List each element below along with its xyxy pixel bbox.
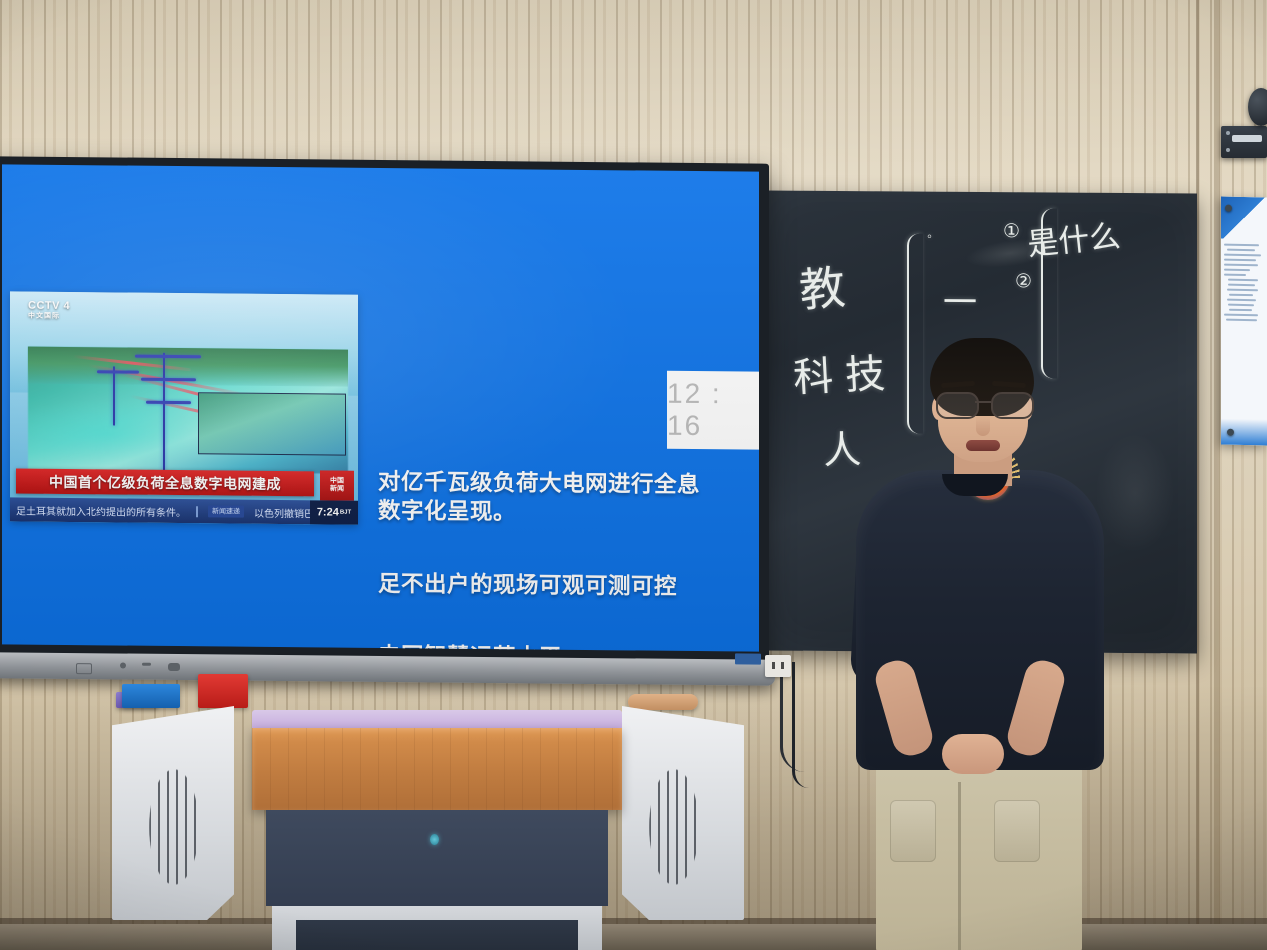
display-menu-button[interactable] <box>120 662 126 668</box>
podium-base-shadow <box>296 920 578 950</box>
slide-clock-widget: 12 : 16 <box>667 371 759 450</box>
power-cable <box>792 662 809 788</box>
ticker-pill: 新闻速递 <box>208 505 244 517</box>
chalk-item1-number: ① <box>1003 220 1020 243</box>
chalk-marker-dot: ◦ <box>927 230 932 246</box>
podium-box-blue[interactable] <box>122 684 180 708</box>
pants-pocket <box>994 800 1040 862</box>
display-screen[interactable]: CCTV 4 中文国际 中国首个亿级负荷全息数字电网建成 中国 新闻 足土耳其就… <box>2 164 759 651</box>
wall-socket[interactable] <box>765 655 791 677</box>
podium-wood-panel <box>252 728 622 810</box>
camera-mount-bracket <box>1221 126 1267 158</box>
cctv-logo: CCTV 4 中文国际 <box>28 301 70 320</box>
interactive-flat-panel[interactable]: CCTV 4 中文国际 中国首个亿级负荷全息数字电网建成 中国 新闻 足土耳其就… <box>0 156 769 663</box>
glasses-icon <box>935 392 1031 416</box>
display-volume-down-button[interactable] <box>142 663 151 666</box>
presenter-hands <box>942 734 1004 774</box>
podium-box-red[interactable] <box>198 674 248 708</box>
news-ticker: 足土耳其就加入北约提出的所有条件。 新闻速递 以色列撤销巴 7:24BJT <box>10 497 358 524</box>
slide-line-1: 对亿千瓦级负荷大电网进行全息数字化呈现。 <box>378 468 718 529</box>
ticker-divider <box>196 506 198 517</box>
video-transmission-tower <box>113 366 115 426</box>
poster-tack <box>1227 429 1234 436</box>
slide-clock-time: 12 : 16 <box>667 378 759 443</box>
display-home-button[interactable] <box>76 663 92 674</box>
hdmi-port-label <box>735 653 761 664</box>
wall-poster <box>1221 197 1267 446</box>
slide-line-2: 足不出户的现场可观可测可控 <box>378 570 718 602</box>
ticker-left-text: 足土耳其就加入北约提出的所有条件。 <box>16 502 186 519</box>
podium-speaker-grille-left <box>140 748 208 906</box>
chalk-text-yi: 一 <box>943 275 977 324</box>
video-thumbnail[interactable]: CCTV 4 中文国际 中国首个亿级负荷全息数字电网建成 中国 新闻 足土耳其就… <box>10 291 358 524</box>
camera-arm <box>1232 135 1262 142</box>
chalk-item1-text: 是什么 <box>1025 210 1122 264</box>
slide-text-block: 对亿千瓦级负荷大电网进行全息数字化呈现。 足不出户的现场可观可测可控 电网智慧运… <box>378 468 718 652</box>
chalk-item2-number: ② <box>1015 270 1032 293</box>
podium-speaker-grille-right <box>640 748 708 906</box>
video-transmission-tower <box>163 353 165 473</box>
ticker-clock: 7:24BJT <box>310 500 358 524</box>
presenter <box>838 330 1108 950</box>
wall-seam <box>1214 0 1220 950</box>
podium-front-panel <box>266 810 608 906</box>
ticker-right-text: 以色列撤销巴 <box>254 504 314 520</box>
camera-lens-housing <box>1248 88 1267 126</box>
poster-body <box>1221 239 1267 330</box>
display-power-button[interactable] <box>168 663 180 671</box>
video-inset-panel <box>198 392 346 455</box>
podium-item-beige[interactable] <box>628 694 698 710</box>
slide-line-3: 电网智慧运营水平。 <box>378 642 718 651</box>
pants-seam <box>958 782 961 950</box>
presenter-mouth <box>966 440 1000 451</box>
podium[interactable] <box>112 706 744 950</box>
chalk-text-jiao: 教 <box>796 251 848 320</box>
poster-header <box>1221 197 1267 240</box>
news-headline-text: 中国首个亿级负荷全息数字电网建成 <box>49 471 281 493</box>
poster-tack <box>1225 205 1232 212</box>
news-corner-logo: 中国 新闻 <box>320 470 354 500</box>
news-headline-banner: 中国首个亿级负荷全息数字电网建成 <box>16 468 314 496</box>
podium-indicator-light <box>430 834 439 845</box>
pants-pocket <box>890 800 936 862</box>
presenter-nose <box>976 416 990 436</box>
classroom-scene: 教 科技 人 ◦ 一 ① 是什么 ② <box>0 0 1267 950</box>
